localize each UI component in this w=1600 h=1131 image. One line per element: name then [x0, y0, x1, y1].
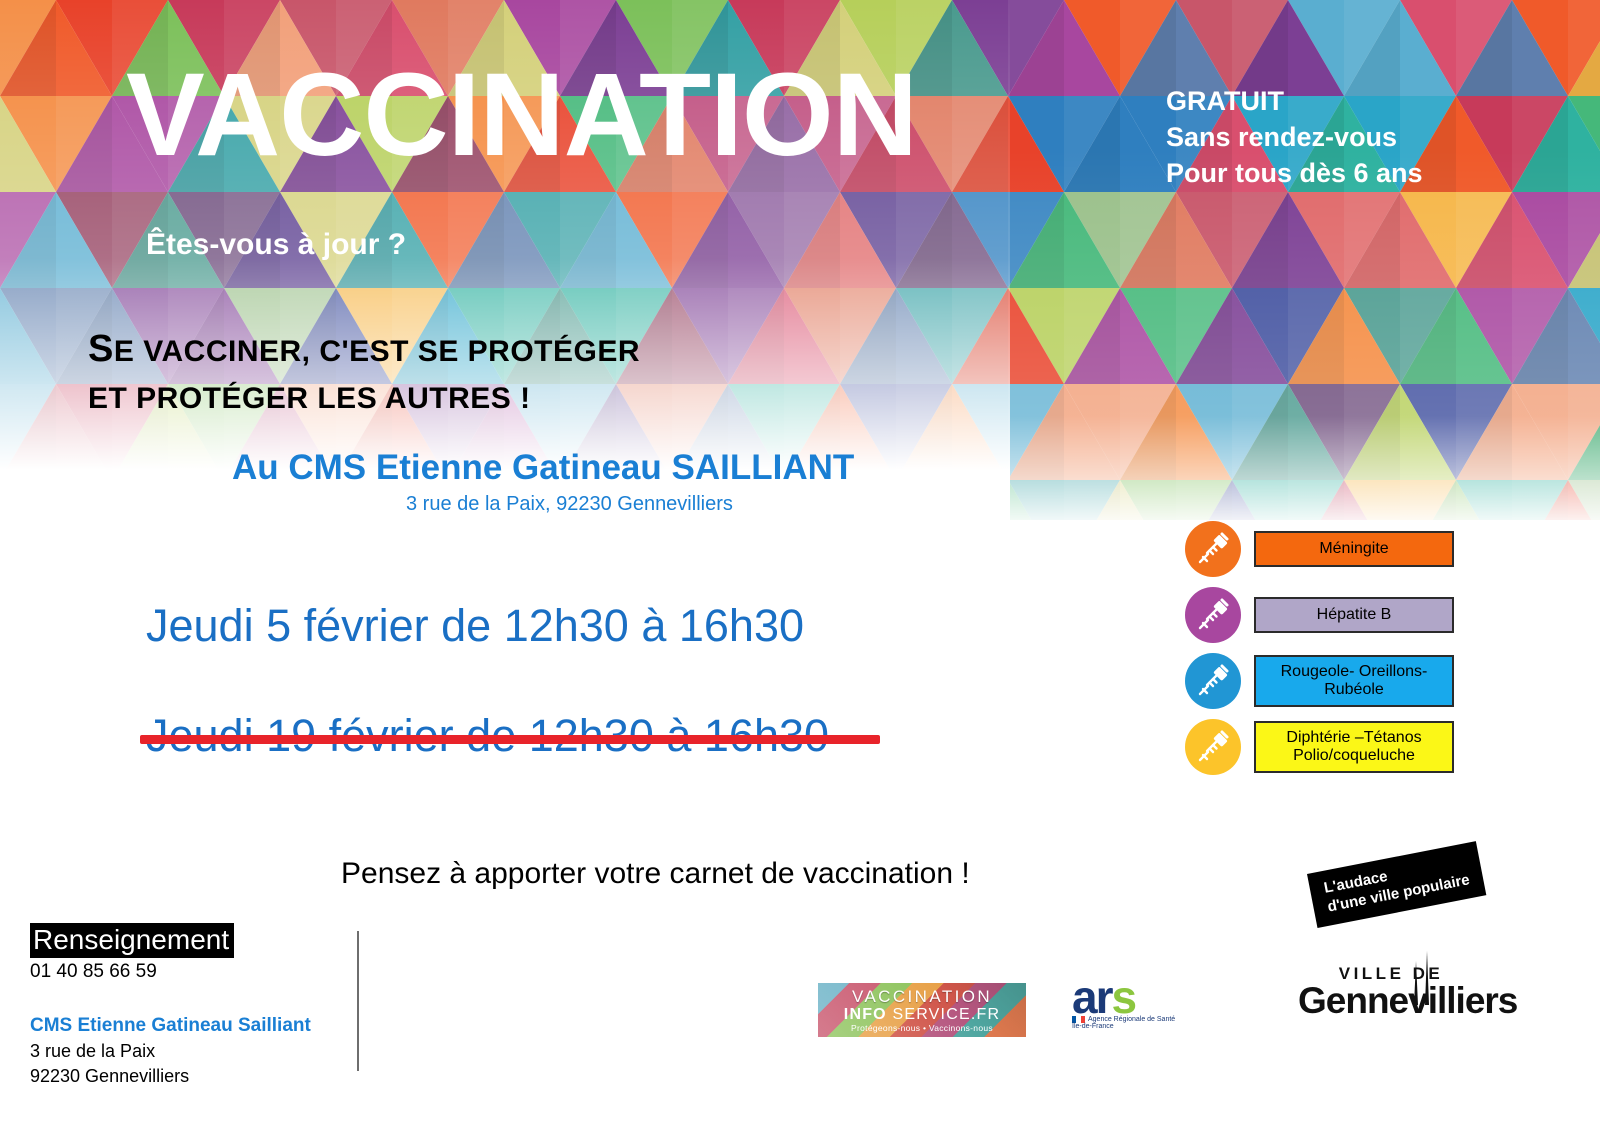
ars-logo[interactable]: ars Agence Régionale de Santé Île-de-Fra…: [1072, 976, 1212, 1038]
page-title: VACCINATION: [126, 56, 917, 174]
slogan-block: SE VACCINER, C'EST SE PROTÉGER ET PROTÉG…: [88, 322, 640, 421]
info-age: Pour tous dès 6 ans: [1166, 156, 1423, 192]
ars-wordmark: ars: [1072, 976, 1212, 1018]
legend-label-ror-line-a: Rougeole- Oreillons-: [1281, 663, 1428, 680]
legend-label-ror-line-b: Rubéole: [1324, 681, 1384, 698]
cancelled-strikethrough: [140, 735, 880, 744]
contact-street: 3 rue de la Paix: [30, 1039, 311, 1064]
contact-heading: Renseignement: [30, 923, 234, 958]
vis-logo-line-1: VACCINATION: [852, 988, 992, 1005]
venue-address: 3 rue de la Paix, 92230 Gennevilliers: [406, 493, 733, 516]
poster-canvas: VACCINATION Êtes-vous à jour ? GRATUIT S…: [0, 0, 1600, 1131]
legend-item-meningite: Méningite: [1185, 521, 1454, 577]
legend-label-dtp-line-a: Diphtérie –Tétanos: [1286, 729, 1421, 746]
vis-logo-line-2: INFO SERVICE.FR: [844, 1005, 1000, 1024]
info-free: GRATUIT: [1166, 84, 1423, 120]
contact-address: 3 rue de la Paix 92230 Gennevilliers: [30, 1039, 311, 1089]
info-no-appointment: Sans rendez-vous: [1166, 120, 1423, 156]
legend-item-ror: Rougeole- Oreillons- Rubéole: [1185, 653, 1454, 709]
syringe-icon: [1185, 521, 1241, 577]
top-right-info: GRATUIT Sans rendez-vous Pour tous dès 6…: [1166, 84, 1423, 192]
legend-label-meningite: Méningite: [1254, 531, 1454, 567]
legend-item-dtp: Diphtérie –Tétanos Polio/coqueluche: [1185, 719, 1454, 775]
legend-label-dtp-line-b: Polio/coqueluche: [1293, 747, 1415, 764]
contact-phone[interactable]: 01 40 85 66 59: [30, 961, 311, 983]
gennevilliers-logo[interactable]: VILLE DE Gennevilliers: [1298, 965, 1484, 1020]
vis-logo-info: INFO: [844, 1006, 887, 1023]
contact-center-name: CMS Etienne Gatineau Sailliant: [30, 1015, 311, 1037]
contact-block: Renseignement 01 40 85 66 59 CMS Etienne…: [30, 923, 311, 1089]
vis-logo-tagline: Protégeons-nous • Vaccinons-nous: [851, 1024, 993, 1033]
syringe-icon: [1185, 719, 1241, 775]
syringe-icon: [1185, 653, 1241, 709]
ars-wordmark-s: s: [1111, 971, 1135, 1023]
bring-record-note: Pensez à apporter votre carnet de vaccin…: [341, 857, 970, 891]
ars-region: Île-de-France: [1072, 1023, 1212, 1030]
vaccine-legend: Méningite Hépatite B: [1185, 521, 1454, 775]
slogan-line-1: SE VACCINER, C'EST SE PROTÉGER: [88, 322, 640, 377]
vaccination-info-service-logo[interactable]: VACCINATION INFO SERVICE.FR Protégeons-n…: [818, 983, 1026, 1037]
slogan-dropcap: S: [88, 328, 114, 370]
page-subtitle: Êtes-vous à jour ?: [146, 228, 406, 262]
spire-icon: [1404, 951, 1440, 1005]
slogan-line-2: ET PROTÉGER LES AUTRES !: [88, 377, 640, 421]
gvl-city-name: Gennevilliers: [1298, 982, 1484, 1020]
legend-label-hepatite-b: Hépatite B: [1254, 597, 1454, 633]
legend-item-hepatite-b: Hépatite B: [1185, 587, 1454, 643]
vertical-divider: [357, 931, 359, 1071]
slogan-line-1-text: E VACCINER, C'EST SE PROTÉGER: [114, 335, 640, 368]
legend-label-ror: Rougeole- Oreillons- Rubéole: [1254, 655, 1454, 707]
venue-name: Au CMS Etienne Gatineau SAILLIANT: [232, 448, 854, 488]
ars-wordmark-ar: ar: [1072, 971, 1111, 1023]
contact-city: 92230 Gennevilliers: [30, 1064, 311, 1089]
syringe-icon: [1185, 587, 1241, 643]
legend-label-dtp: Diphtérie –Tétanos Polio/coqueluche: [1254, 721, 1454, 773]
session-date-1: Jeudi 5 février de 12h30 à 16h30: [146, 600, 804, 652]
vis-logo-service: SERVICE.FR: [887, 1006, 1000, 1023]
